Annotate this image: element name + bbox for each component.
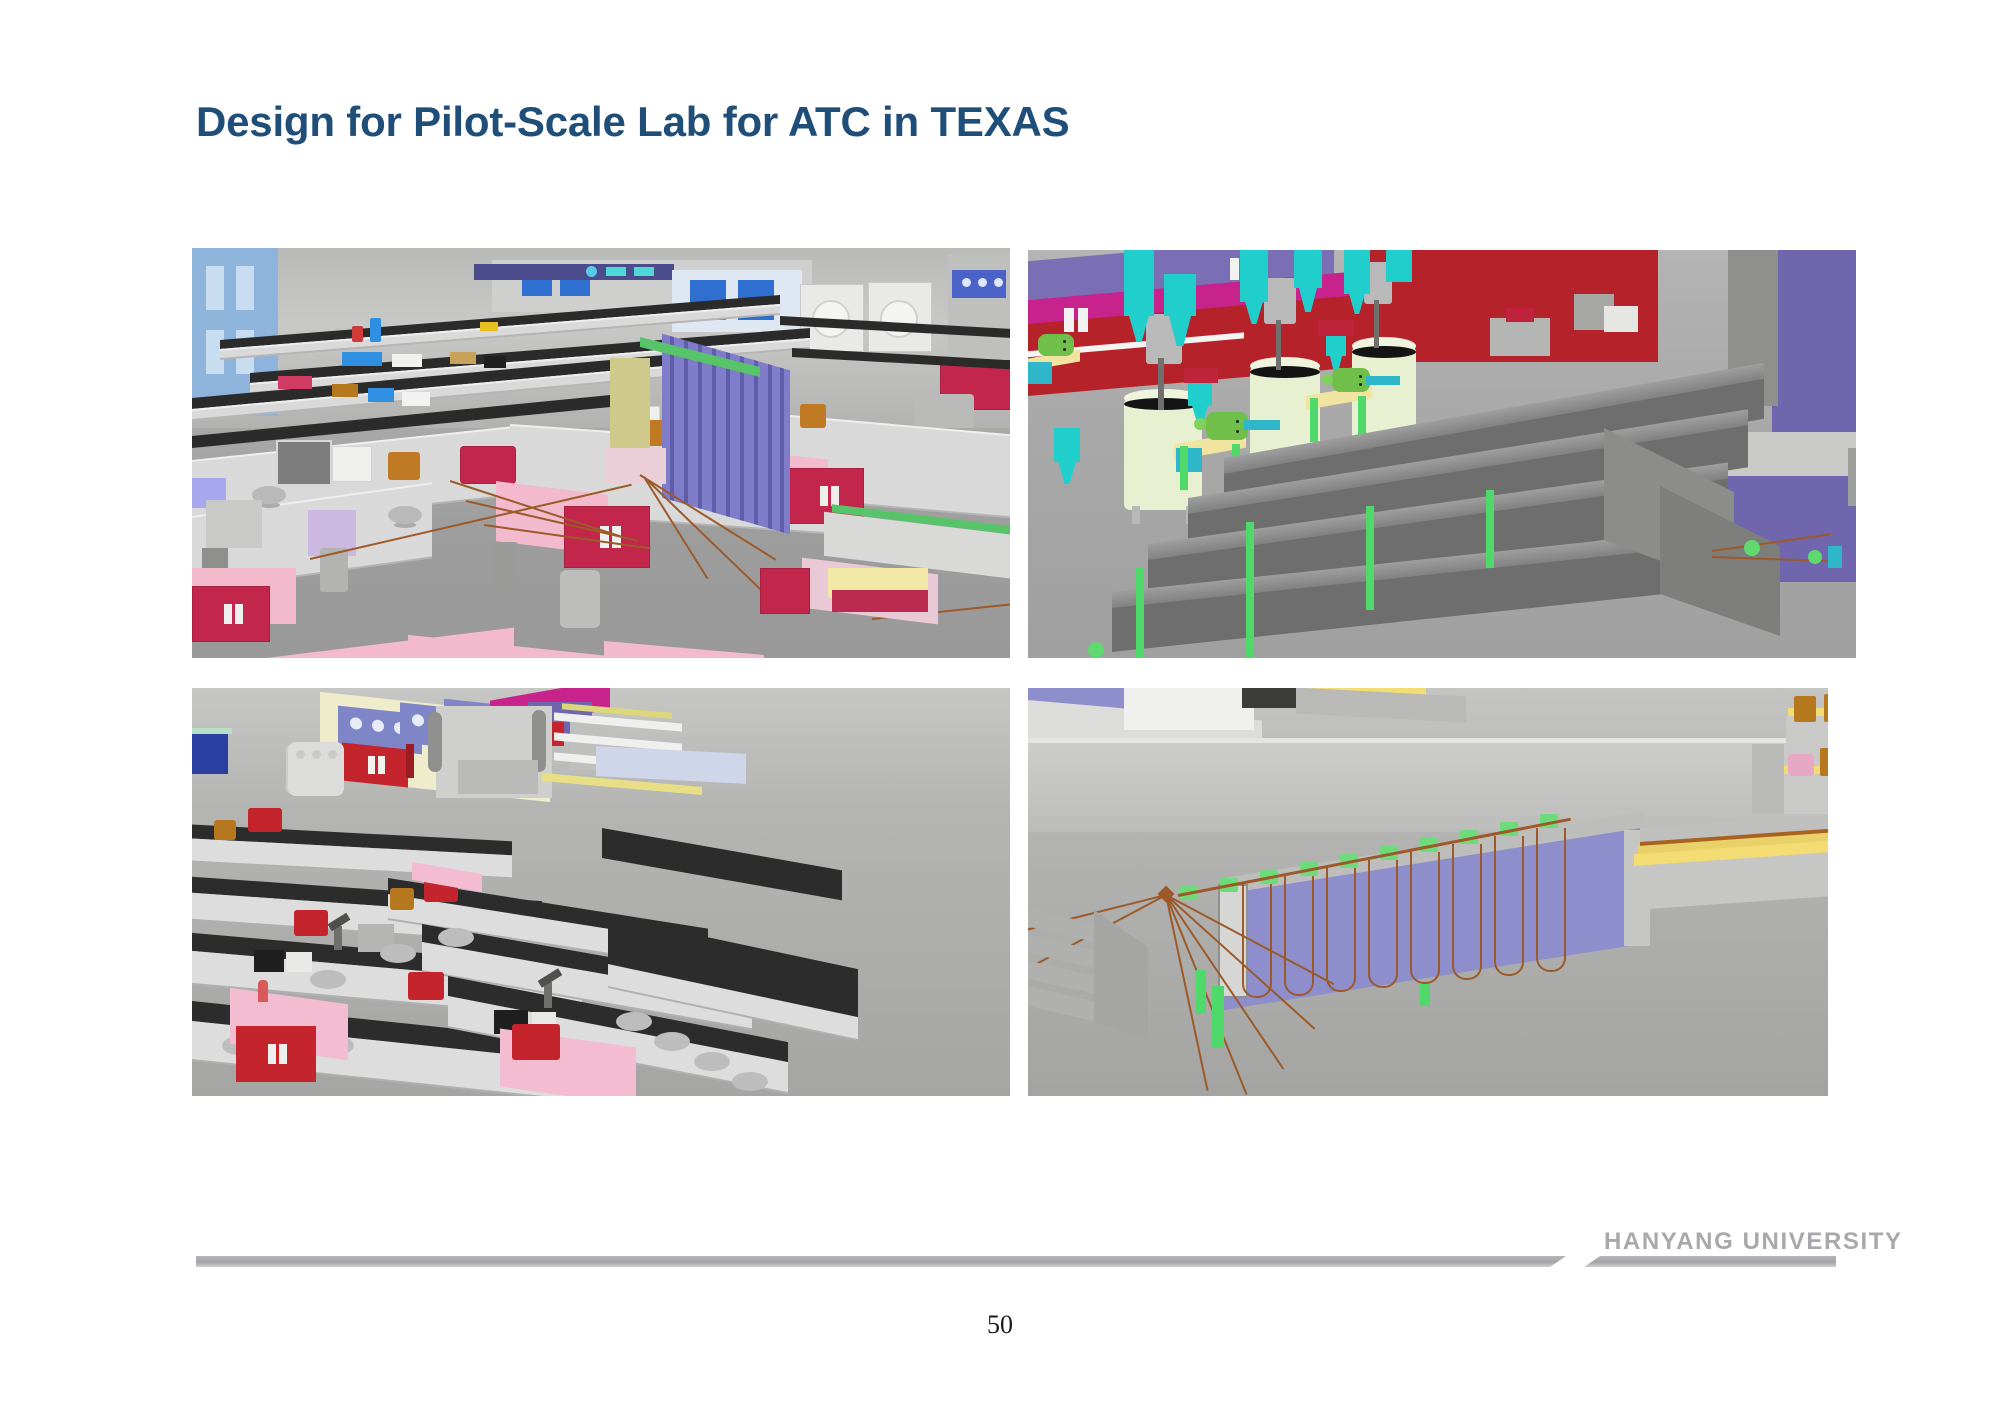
pipe-loop bbox=[1494, 836, 1524, 976]
agitator-shaft bbox=[1374, 300, 1379, 348]
equipment-red bbox=[1318, 320, 1354, 336]
pipe-connector bbox=[1244, 420, 1280, 430]
column-gray bbox=[1752, 744, 1784, 814]
lab-stool bbox=[380, 944, 416, 963]
pump bbox=[1206, 412, 1248, 440]
amber-jar bbox=[388, 452, 420, 480]
column-gray bbox=[1848, 448, 1856, 506]
valve-green bbox=[1808, 550, 1822, 564]
amber-jar bbox=[800, 404, 826, 428]
feed-hopper bbox=[1054, 428, 1080, 462]
support-leg-green bbox=[1246, 522, 1254, 658]
valve-green bbox=[1744, 540, 1760, 556]
equipment-column bbox=[492, 542, 518, 588]
reagent-box bbox=[342, 352, 382, 366]
agitator-shaft bbox=[1158, 358, 1164, 410]
pipe-loop bbox=[1284, 876, 1314, 996]
support-leg-green bbox=[1486, 490, 1494, 568]
amber-jar bbox=[390, 888, 414, 910]
wall-handle bbox=[1078, 308, 1088, 332]
panel-light bbox=[978, 278, 987, 287]
wall-panel-blue bbox=[192, 730, 228, 774]
instrument-red bbox=[460, 446, 516, 484]
agitator-shaft bbox=[1276, 320, 1281, 370]
lab-stool bbox=[616, 1012, 652, 1031]
page-number: 50 bbox=[0, 1310, 2000, 1340]
render-scene-tank-filter bbox=[1028, 688, 1828, 1096]
feed-hopper bbox=[1294, 250, 1322, 288]
equipment-unit bbox=[914, 394, 974, 428]
reagent-box bbox=[368, 388, 394, 402]
instrument-red bbox=[408, 972, 444, 1000]
footer-bar-right-segment bbox=[1584, 1256, 1836, 1267]
equipment-base bbox=[202, 548, 228, 568]
wall-panel bbox=[1028, 742, 1828, 832]
cabinet-handle bbox=[378, 756, 385, 774]
equipment-dial bbox=[312, 750, 321, 759]
figure-panel-bottom-left[interactable] bbox=[192, 688, 1010, 1096]
support-post-green bbox=[1196, 970, 1206, 1014]
reagent-bottle bbox=[352, 326, 363, 342]
side-panel-pink bbox=[606, 448, 666, 484]
red-cabinet bbox=[236, 1026, 316, 1082]
cabinet-handle bbox=[820, 486, 828, 506]
pump bbox=[1332, 368, 1370, 392]
footer-bar-left-segment bbox=[196, 1256, 1566, 1267]
wall-purple-right bbox=[1772, 250, 1856, 436]
hood-divider bbox=[406, 744, 414, 778]
wall-edge bbox=[1028, 738, 1828, 743]
wall-handle bbox=[1064, 308, 1074, 332]
support-leg-green bbox=[1366, 506, 1374, 610]
hanyang-university-logo: HANYANG UNIVERSITY bbox=[1604, 1228, 1903, 1256]
monitor bbox=[276, 440, 332, 486]
amber-jar bbox=[214, 820, 236, 840]
render-scene-reactor-area bbox=[1028, 250, 1856, 658]
control-box bbox=[1028, 362, 1052, 384]
indicator-round bbox=[586, 266, 597, 277]
monitor-screen bbox=[254, 950, 284, 972]
partition-base bbox=[458, 760, 538, 794]
instrument-red bbox=[512, 1024, 560, 1060]
lab-stool bbox=[310, 970, 346, 989]
microscope bbox=[544, 982, 552, 1008]
pipe-loop bbox=[1242, 884, 1272, 998]
equipment-dial bbox=[328, 750, 337, 759]
keyboard bbox=[286, 952, 312, 972]
pipe-connector bbox=[1828, 546, 1842, 568]
feed-hopper bbox=[1240, 250, 1268, 302]
red-cabinet bbox=[760, 568, 810, 614]
cabinet-handle bbox=[279, 1044, 287, 1064]
amber-jar bbox=[1820, 748, 1828, 776]
pump-valve bbox=[1322, 374, 1333, 385]
red-panel bbox=[832, 590, 928, 612]
hood-cabinet-red bbox=[342, 743, 408, 788]
figure-panel-top-left[interactable] bbox=[192, 248, 1010, 658]
side-panel-tan bbox=[610, 358, 650, 462]
feed-hopper bbox=[1386, 250, 1412, 282]
reagent-bottle bbox=[370, 318, 381, 342]
instrument-red bbox=[248, 808, 282, 832]
equipment-cylinder bbox=[560, 570, 600, 628]
platform-white bbox=[1124, 688, 1254, 730]
reagent-box bbox=[278, 376, 312, 389]
shelf-unit bbox=[1782, 774, 1828, 814]
support-post-green bbox=[1212, 986, 1224, 1048]
cabinet-handle bbox=[268, 1044, 276, 1064]
equipment-white bbox=[1604, 306, 1638, 332]
pipe-loop bbox=[1536, 828, 1566, 972]
cabinet-handle bbox=[831, 486, 839, 506]
reagent-box bbox=[332, 384, 358, 397]
valve-green bbox=[1088, 642, 1104, 658]
faucet bbox=[258, 980, 268, 1002]
equipment-gray bbox=[1490, 318, 1550, 356]
lab-stool bbox=[654, 1032, 690, 1051]
pipe-connector bbox=[1366, 376, 1400, 385]
pipe-loop bbox=[1452, 844, 1482, 980]
cabinet-handle bbox=[368, 756, 375, 774]
cabinet-handle bbox=[235, 604, 243, 624]
reagent-box bbox=[480, 322, 498, 331]
panel-light bbox=[962, 278, 971, 287]
feed-hopper bbox=[1124, 250, 1154, 316]
feed-hopper bbox=[1164, 274, 1196, 316]
render-scene-bench-rows bbox=[192, 688, 1010, 1096]
support-leg-green bbox=[1136, 568, 1144, 658]
amber-jar bbox=[1824, 694, 1828, 722]
equipment-pink bbox=[1788, 754, 1814, 776]
equipment-dial bbox=[296, 750, 305, 759]
reagent-box bbox=[450, 352, 476, 364]
lab-stool bbox=[732, 1072, 768, 1091]
skid-leg-green bbox=[1310, 398, 1318, 442]
instrument-red bbox=[294, 910, 328, 936]
indicator-cyan bbox=[634, 267, 654, 276]
pump-valve bbox=[1194, 418, 1206, 430]
pipe-loop bbox=[1326, 868, 1356, 992]
render-scene-lab-overview bbox=[192, 248, 1010, 658]
agitator-motor bbox=[1264, 278, 1296, 324]
footer-bar bbox=[196, 1256, 1836, 1267]
amber-jar bbox=[1794, 696, 1816, 722]
equipment-red bbox=[1506, 308, 1534, 322]
tank-leg bbox=[1132, 506, 1140, 524]
indicator-cyan bbox=[606, 267, 626, 276]
reagent-box bbox=[392, 354, 422, 367]
wall-trim-green bbox=[192, 728, 232, 734]
pump bbox=[1038, 334, 1074, 356]
panel-light bbox=[994, 278, 1003, 287]
reagent-box bbox=[484, 356, 506, 368]
skid-leg-green bbox=[1180, 446, 1188, 490]
pipe-loop bbox=[1410, 852, 1440, 984]
dark-opening bbox=[1242, 688, 1300, 708]
reagent-box bbox=[402, 392, 430, 406]
lab-stool bbox=[694, 1052, 730, 1071]
lab-stool bbox=[388, 506, 422, 524]
support-post-green bbox=[1420, 984, 1430, 1006]
lab-stool bbox=[438, 928, 474, 947]
pipe-loop bbox=[1368, 860, 1398, 988]
workstation-panel bbox=[332, 446, 372, 482]
page-title: Design for Pilot-Scale Lab for ATC in TE… bbox=[196, 98, 1069, 146]
feed-hopper bbox=[1344, 250, 1370, 294]
equipment-red bbox=[1184, 368, 1218, 383]
equipment-gray bbox=[206, 500, 262, 548]
microscope bbox=[334, 926, 342, 950]
wall-handle bbox=[1230, 258, 1239, 280]
figure-panel-top-right[interactable] bbox=[1028, 250, 1856, 658]
figure-panel-bottom-right[interactable] bbox=[1028, 688, 1828, 1096]
cabinet-handle bbox=[224, 604, 232, 624]
